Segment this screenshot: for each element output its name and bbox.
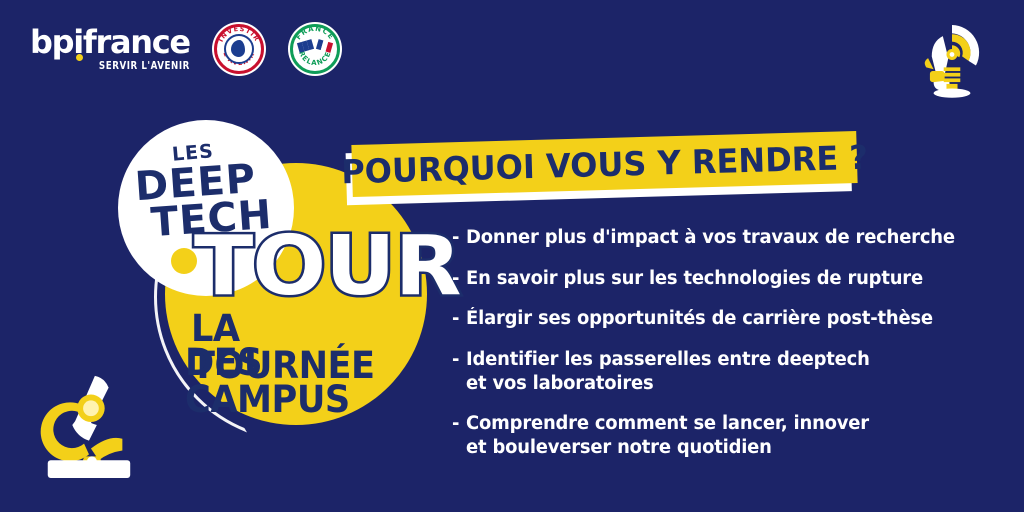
bpifrance-tagline: SERVIR L'AVENIR bbox=[99, 61, 190, 72]
bullet-text-block: Élargir ses opportunités de carrière pos… bbox=[466, 307, 933, 331]
bullet-dash-icon: - bbox=[452, 267, 459, 291]
list-item: - Élargir ses opportunités de carrière p… bbox=[452, 307, 956, 331]
bullet-dash-icon: - bbox=[452, 226, 459, 250]
bullet-text-block: Identifier les passerelles entre deeptec… bbox=[466, 348, 870, 395]
list-item: - Donner plus d'impact à vos travaux de … bbox=[452, 226, 956, 250]
poster-canvas: bpifrance SERVIR L'AVENIR INVESTIR L'AVE… bbox=[0, 0, 1024, 512]
bullet-line: et vos laboratoires bbox=[466, 372, 870, 396]
bullet-line: En savoir plus sur les technologies de r… bbox=[466, 267, 923, 291]
bullet-dash-icon: - bbox=[452, 307, 459, 331]
eu-flag-icon bbox=[297, 39, 314, 53]
bullet-dash-icon: - bbox=[452, 348, 459, 372]
bullet-line: Donner plus d'impact à vos travaux de re… bbox=[466, 226, 955, 250]
head-lightbulb-icon bbox=[906, 14, 998, 106]
list-item: - Comprendre comment se lancer, innover … bbox=[452, 412, 956, 459]
header-logo-group: bpifrance SERVIR L'AVENIR INVESTIR L'AVE… bbox=[30, 22, 342, 76]
benefits-list: - Donner plus d'impact à vos travaux de … bbox=[452, 226, 972, 477]
list-item: - En savoir plus sur les technologies de… bbox=[452, 267, 956, 291]
bullet-line: Élargir ses opportunités de carrière pos… bbox=[466, 307, 933, 331]
bullet-line: et bouleverser notre quotidien bbox=[466, 436, 869, 460]
bpifrance-logo: bpifrance SERVIR L'AVENIR bbox=[30, 26, 190, 72]
logo-subline-campus: DES CAMPUS bbox=[185, 344, 425, 418]
crossed-flags-icon bbox=[298, 39, 332, 59]
bpifrance-wordmark: bpifrance bbox=[30, 26, 190, 58]
microscope-icon bbox=[34, 362, 142, 484]
bullet-text-block: Comprendre comment se lancer, innover et… bbox=[466, 412, 869, 459]
badge-france-relance: FRANCE RELANCE bbox=[288, 22, 342, 76]
marianne-profile-icon bbox=[224, 34, 254, 64]
logo-word-tour: TOUR bbox=[194, 232, 460, 303]
bullet-text-block: En savoir plus sur les technologies de r… bbox=[466, 267, 923, 291]
badge-investir-avenir: INVESTIR L'AVENIR bbox=[212, 22, 266, 76]
bullet-line: Comprendre comment se lancer, innover bbox=[466, 412, 869, 436]
banner-headline-text: POURQUOI VOUS Y RENDRE ? bbox=[341, 137, 869, 191]
bullet-text-block: Donner plus d'impact à vos travaux de re… bbox=[466, 226, 955, 250]
french-flag-icon bbox=[316, 39, 333, 53]
bullet-dash-icon: - bbox=[452, 412, 459, 436]
bullet-line: Identifier les passerelles entre deeptec… bbox=[466, 348, 870, 372]
list-item: - Identifier les passerelles entre deept… bbox=[452, 348, 956, 395]
